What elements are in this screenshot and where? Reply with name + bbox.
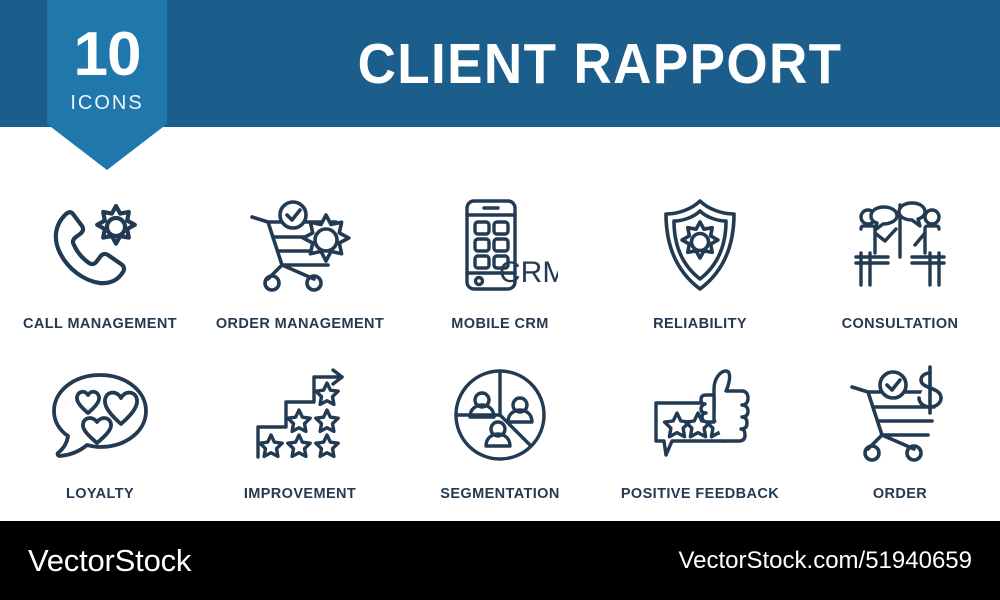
page-title: CLIENT RAPPORT [228,0,972,127]
speech-bubble-hearts-icon [42,360,158,470]
icon-cell-consultation[interactable]: CONSULTATION [800,190,1000,360]
icon-grid: CALL MANAGEMENT [0,190,1000,530]
icon-label: CALL MANAGEMENT [23,316,177,332]
icon-label: CONSULTATION [842,316,959,332]
icon-cell-positive-feedback[interactable]: POSITIVE FEEDBACK [600,360,800,530]
icon-label: LOYALTY [66,486,134,502]
icon-count-number: 10 [74,24,141,86]
icon-cell-loyalty[interactable]: LOYALTY [0,360,200,530]
two-people-talking-icon [842,190,958,300]
icon-label: IMPROVEMENT [244,486,356,502]
icon-cell-call-management[interactable]: CALL MANAGEMENT [0,190,200,360]
icon-cell-segmentation[interactable]: SEGMENTATION [400,360,600,530]
crm-overlay-text: CRM [499,256,558,289]
icon-label: ORDER [873,486,927,502]
smartphone-crm-icon: CRM [442,190,558,300]
vectorstock-url: VectorStock.com/51940659 [678,547,972,575]
icon-label: POSITIVE FEEDBACK [621,486,779,502]
shield-gear-icon [642,190,758,300]
vector-illustration-canvas: CLIENT RAPPORT 10 ICONS CALL MANAGEMENT [0,0,1000,600]
vectorstock-logo-text: VectorStock [28,543,191,579]
icon-row-1: CALL MANAGEMENT [0,190,1000,360]
icon-label: ORDER MANAGEMENT [216,316,384,332]
icon-cell-mobile-crm[interactable]: CRM MOBILE CRM [400,190,600,360]
icon-count-label: ICONS [70,92,143,115]
cart-gear-check-icon [242,190,358,300]
icon-count-ribbon: 10 ICONS [47,0,167,170]
cart-dollar-check-icon [842,360,958,470]
icon-label: RELIABILITY [653,316,747,332]
phone-gear-icon [42,190,158,300]
icon-cell-reliability[interactable]: RELIABILITY [600,190,800,360]
watermark-footer: VectorStock VectorStock.com/51940659 [0,521,1000,600]
thumbs-up-stars-icon [642,360,758,470]
icon-row-2: LOYALTY IMPROVEMENT [0,360,1000,530]
icon-cell-improvement[interactable]: IMPROVEMENT [200,360,400,530]
stairs-stars-arrow-icon [242,360,358,470]
pie-people-icon [442,360,558,470]
icon-label: MOBILE CRM [451,316,548,332]
icon-cell-order-management[interactable]: ORDER MANAGEMENT [200,190,400,360]
icon-cell-order[interactable]: ORDER [800,360,1000,530]
icon-label: SEGMENTATION [440,486,559,502]
